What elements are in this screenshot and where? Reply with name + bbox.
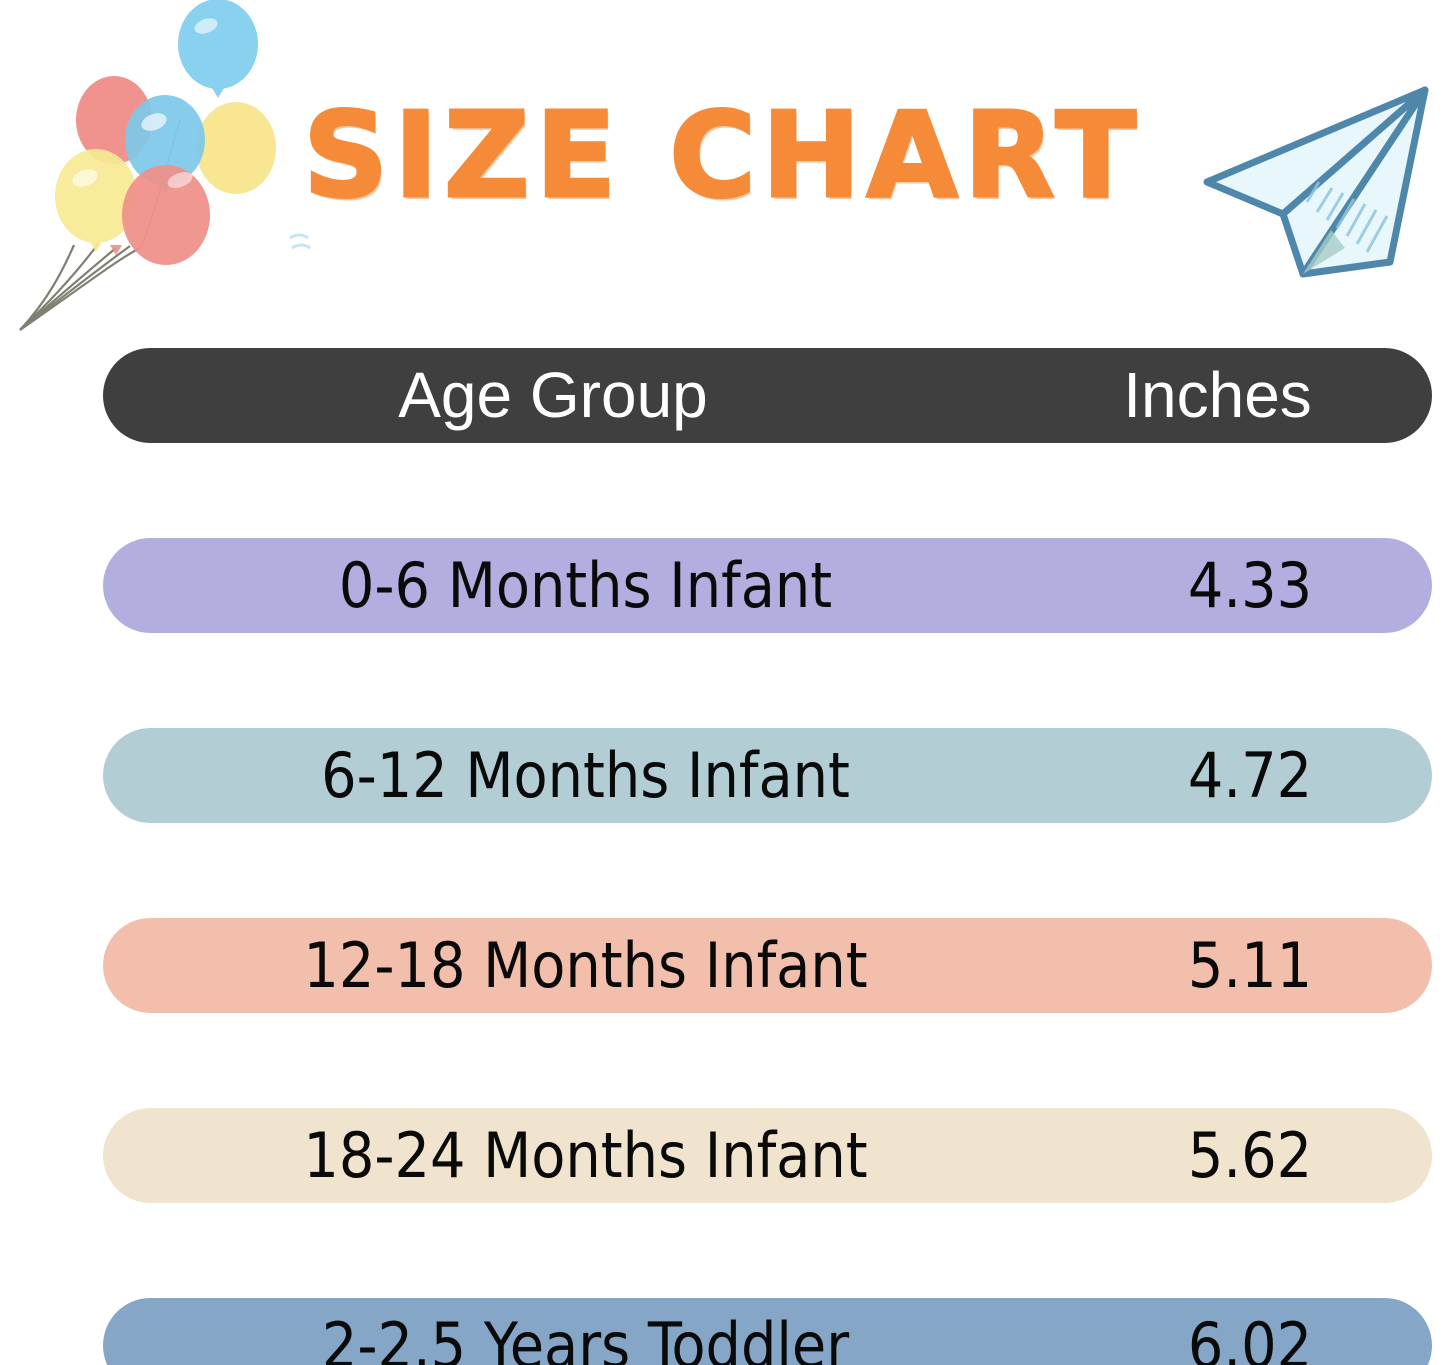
size-chart-page: SIZE CHART Age Group Inches 0-6 Months I…: [0, 0, 1445, 1365]
cell-age-group: 12-18 Months Infant: [103, 918, 1068, 1013]
cell-inches: 5.11: [1068, 918, 1432, 1013]
header-artwork: SIZE CHART: [0, 0, 1445, 340]
column-header-inches: Inches: [1003, 348, 1432, 443]
table-row: 6-12 Months Infant 4.72: [103, 728, 1432, 823]
table-row: 2-2.5 Years Toddler 6.02: [103, 1298, 1432, 1365]
table-header-row: Age Group Inches: [103, 348, 1432, 443]
size-chart-table: Age Group Inches 0-6 Months Infant 4.33 …: [103, 348, 1432, 1365]
column-header-age-group: Age Group: [103, 348, 1003, 443]
table-row: 18-24 Months Infant 5.62: [103, 1108, 1432, 1203]
table-row: 0-6 Months Infant 4.33: [103, 538, 1432, 633]
cell-inches: 6.02: [1068, 1298, 1432, 1365]
cell-inches: 5.62: [1068, 1108, 1432, 1203]
cell-inches: 4.72: [1068, 728, 1432, 823]
cell-age-group: 2-2.5 Years Toddler: [103, 1298, 1068, 1365]
cell-age-group: 18-24 Months Infant: [103, 1108, 1068, 1203]
cell-inches: 4.33: [1068, 538, 1432, 633]
cell-age-group: 0-6 Months Infant: [103, 538, 1068, 633]
table-row: 12-18 Months Infant 5.11: [103, 918, 1432, 1013]
page-title: SIZE CHART: [0, 96, 1445, 214]
cell-age-group: 6-12 Months Infant: [103, 728, 1068, 823]
